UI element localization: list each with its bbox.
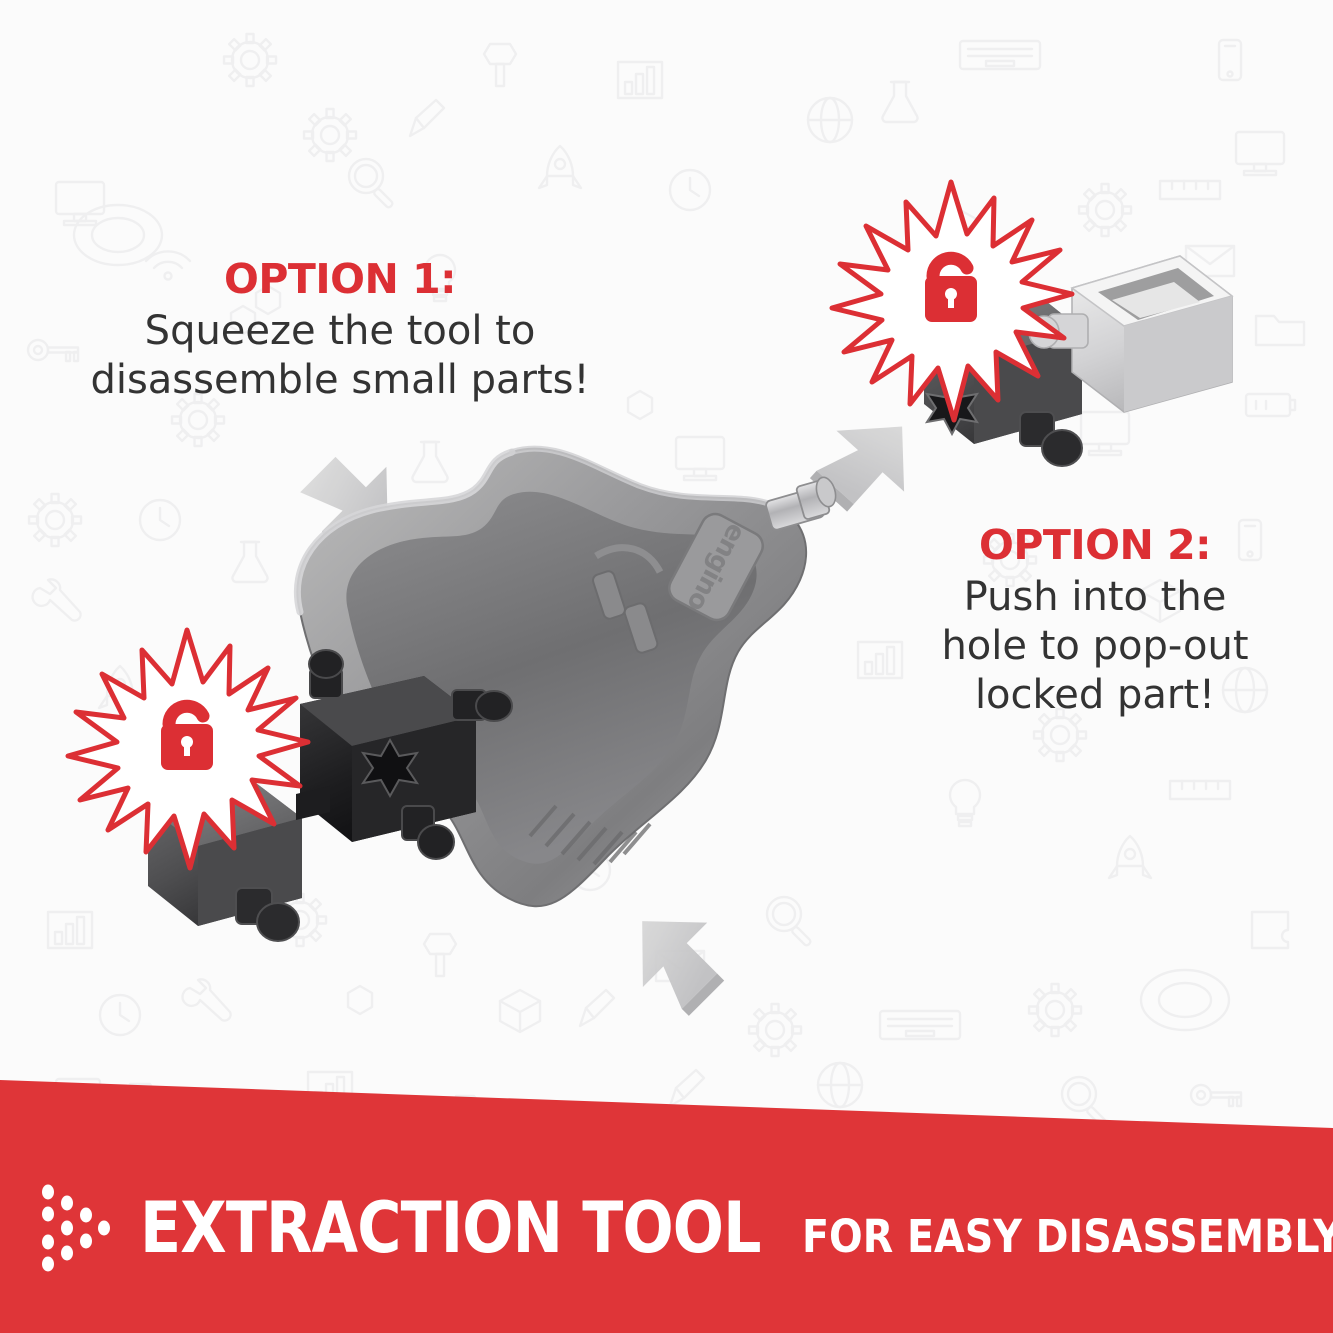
burst-badge-bottom-left [62,624,312,874]
connector-knob-right [452,690,512,721]
option-1-body: Squeeze the tool to disassemble small pa… [60,307,620,405]
callout-option-2: OPTION 2: Push into the hole to pop-out … [900,524,1290,719]
option-1-heading: OPTION 1: [60,258,620,301]
banner-title: EXTRACTION TOOL [140,1187,761,1269]
option-2-body: Push into the hole to pop-out locked par… [900,573,1290,719]
engino-dot-chevron-logo [40,1182,118,1274]
burst-badge-top-right [826,176,1076,426]
connector-knob-top [309,650,343,698]
tool-nozzle-tip [765,475,839,531]
option-2-heading: OPTION 2: [900,524,1290,567]
banner-subtitle: FOR EASY DISASSEMBLY [802,1210,1333,1263]
callout-option-1: OPTION 1: Squeeze the tool to disassembl… [60,258,620,405]
extraction-tool-body: engino [297,449,806,907]
infographic-canvas: engino [0,0,1333,1333]
bottom-banner: EXTRACTION TOOL FOR EASY DISASSEMBLY [0,1060,1333,1333]
arrow-up-left [610,889,738,1017]
